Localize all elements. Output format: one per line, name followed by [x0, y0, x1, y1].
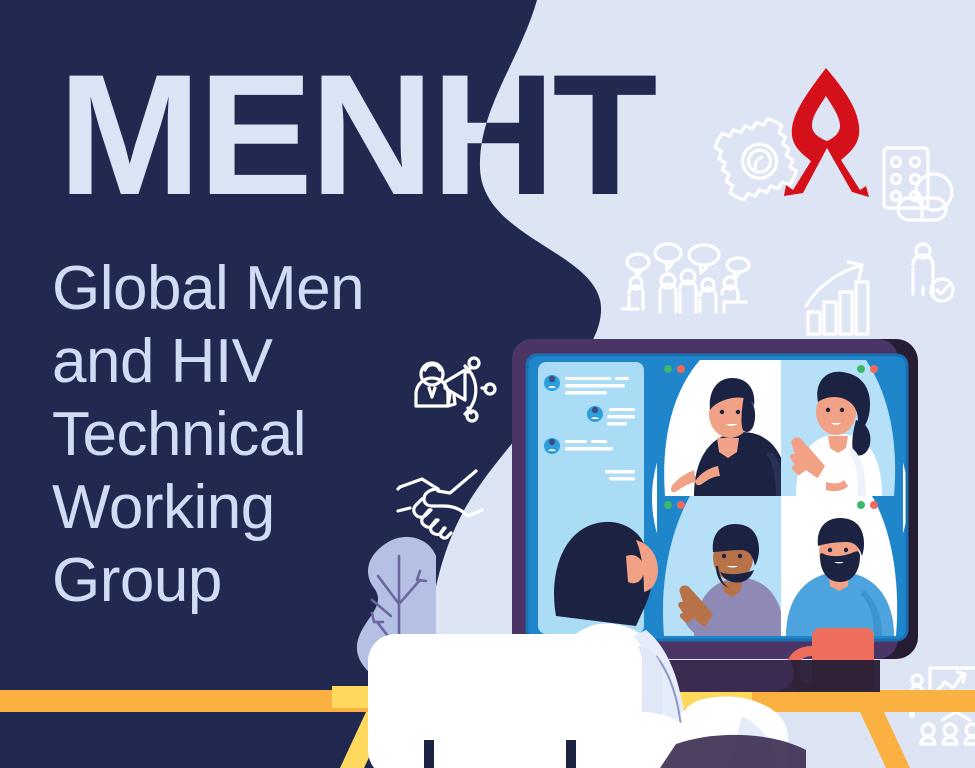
poster-canvas: MENHT MENHT Global Men and HIV Technical… — [0, 0, 975, 768]
subtitle-line-3: Technical — [52, 398, 412, 471]
subtitle-line-2: and HIV — [52, 325, 412, 398]
subtitle-line-1: Global Men — [52, 252, 412, 325]
subtitle-line-5: Group — [52, 544, 412, 617]
poster-subtitle: Global Men and HIV Technical Working Gro… — [52, 252, 412, 617]
subtitle-line-4: Working — [52, 471, 412, 544]
